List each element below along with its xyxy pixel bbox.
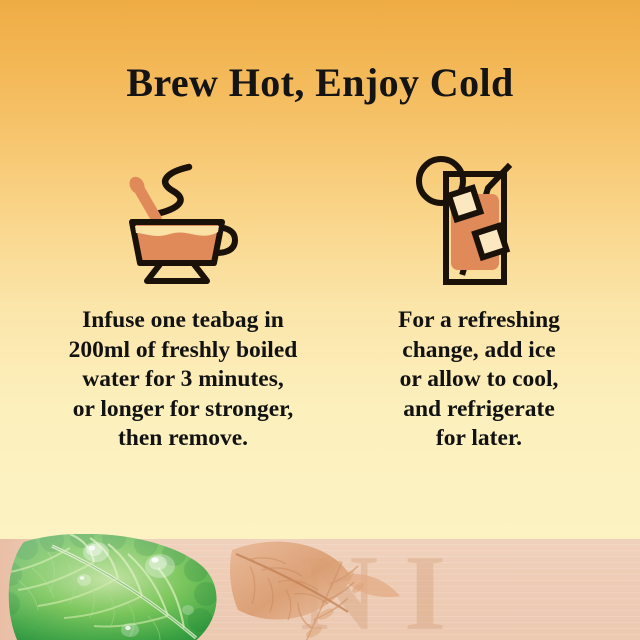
- cold-line-2: change, add ice: [348, 336, 610, 366]
- hot-icon-slot: [105, 150, 265, 290]
- hot-line-5: then remove.: [28, 424, 338, 454]
- cold-icon-slot: [390, 150, 550, 290]
- page-title: Brew Hot, Enjoy Cold: [0, 62, 640, 104]
- brewing-instructions-poster: Brew Hot, Enjoy Cold: [0, 0, 640, 640]
- icons-row: [0, 150, 640, 290]
- cold-instructions-text: For a refreshing change, add ice or allo…: [348, 306, 610, 454]
- cold-line-3: or allow to cool,: [348, 365, 610, 395]
- hot-line-2: 200ml of freshly boiled: [28, 336, 338, 366]
- hot-line-1: Infuse one teabag in: [28, 306, 338, 336]
- hot-instructions-text: Infuse one teabag in 200ml of freshly bo…: [28, 306, 338, 454]
- hot-line-4: or longer for stronger,: [28, 395, 338, 425]
- hot-line-3: water for 3 minutes,: [28, 365, 338, 395]
- teacup-with-steam-icon: [115, 150, 255, 291]
- iced-drink-glass-icon: [405, 150, 535, 291]
- cold-line-1: For a refreshing: [348, 306, 610, 336]
- cold-line-4: and refrigerate: [348, 395, 610, 425]
- mint-leaf-photo: [8, 534, 248, 640]
- instructions-row: Infuse one teabag in 200ml of freshly bo…: [0, 306, 640, 466]
- cold-line-5: for later.: [348, 424, 610, 454]
- peach-sprig-illustration: [296, 556, 436, 640]
